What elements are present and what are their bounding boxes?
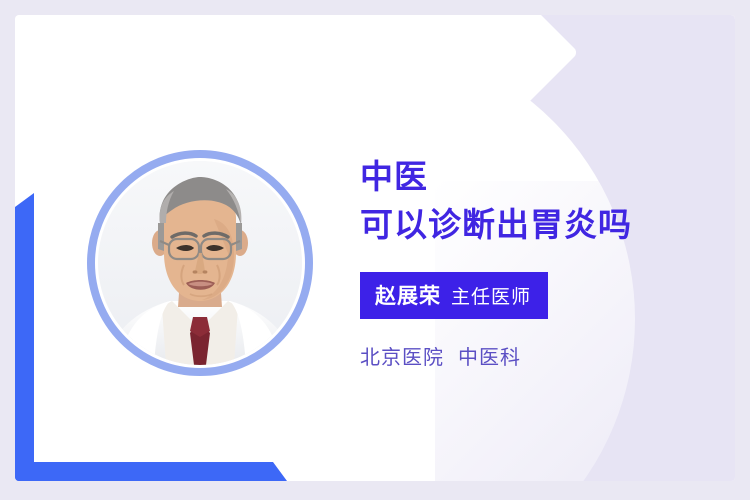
avatar-ring — [87, 150, 313, 376]
card-inner-panel: 中医 可以诊断出胃炎吗 赵展荣主任医师 北京医院中医科 — [15, 15, 735, 481]
doctor-name-badge: 赵展荣主任医师 — [360, 272, 548, 319]
avatar — [87, 150, 313, 376]
doctor-professional-title: 主任医师 — [451, 287, 531, 308]
question-title-line-2: 可以诊断出胃炎吗 — [360, 201, 730, 249]
department-name: 中医科 — [458, 347, 521, 369]
question-title-line-1: 中医 — [360, 153, 730, 201]
info-text-column: 中医 可以诊断出胃炎吗 赵展荣主任医师 北京医院中医科 — [360, 153, 730, 370]
blue-bottom-accent-bar — [15, 462, 287, 481]
hospital-department-line: 北京医院中医科 — [360, 341, 730, 370]
doctor-info-card: 中医 可以诊断出胃炎吗 赵展荣主任医师 北京医院中医科 — [0, 0, 750, 500]
blue-left-accent-bar — [15, 193, 34, 481]
doctor-name: 赵展荣 — [375, 285, 441, 308]
hospital-name: 北京医院 — [360, 347, 444, 369]
